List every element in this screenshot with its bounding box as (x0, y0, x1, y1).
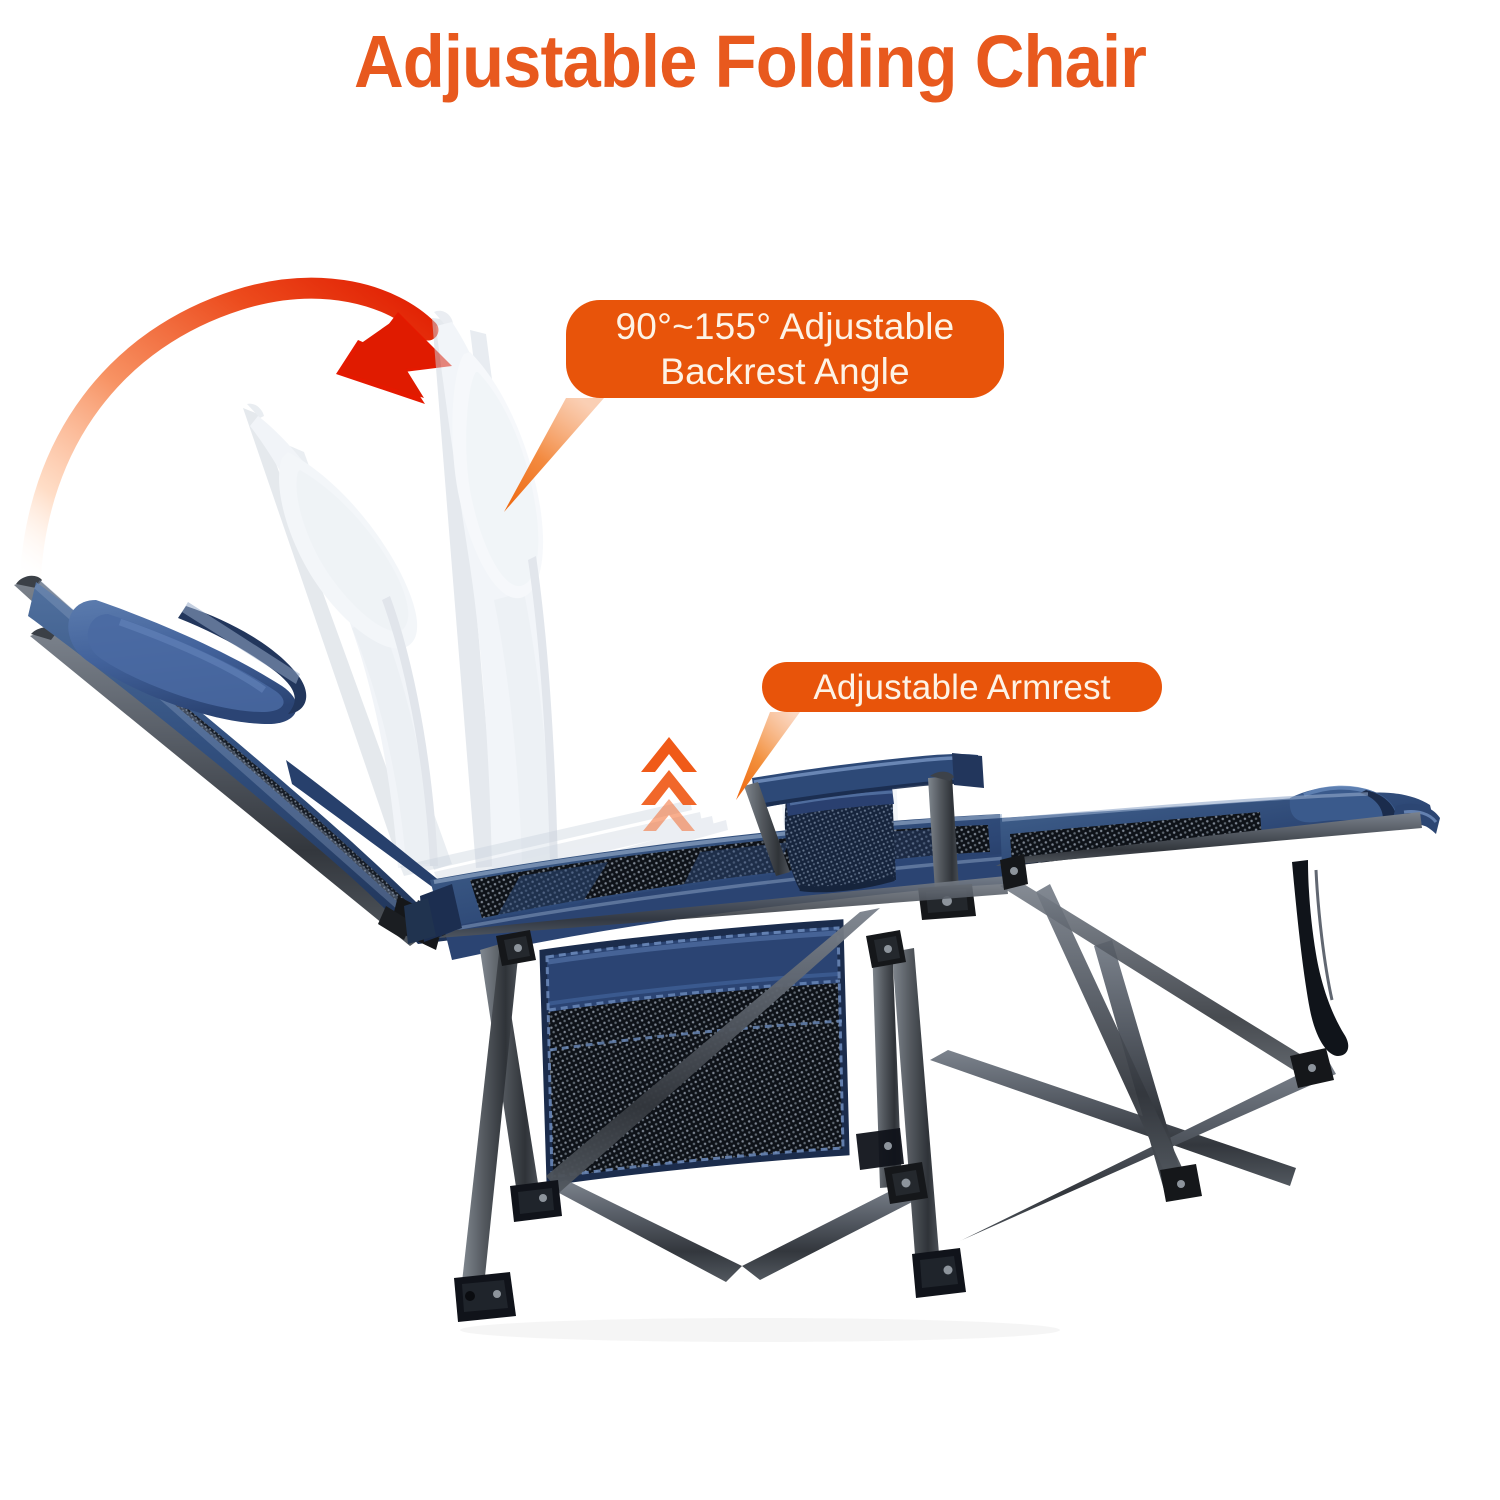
callout-adjustable-armrest[interactable]: Adjustable Armrest (762, 662, 1162, 712)
callout-armrest-line1: Adjustable Armrest (813, 670, 1110, 705)
infographic-canvas: Adjustable Folding Chair (0, 0, 1500, 1500)
recline-rotation-arrow (30, 288, 452, 585)
callout-backrest-line1: 90°~155° Adjustable (616, 304, 955, 349)
product-illustration (0, 0, 1500, 1500)
callout-backrest-angle[interactable]: 90°~155° Adjustable Backrest Angle (566, 300, 1004, 398)
callout-backrest-line2: Backrest Angle (660, 349, 910, 394)
cup-holder (785, 788, 896, 890)
footrest-strap (1292, 860, 1348, 1056)
backrest-ghost-upright (432, 311, 558, 870)
